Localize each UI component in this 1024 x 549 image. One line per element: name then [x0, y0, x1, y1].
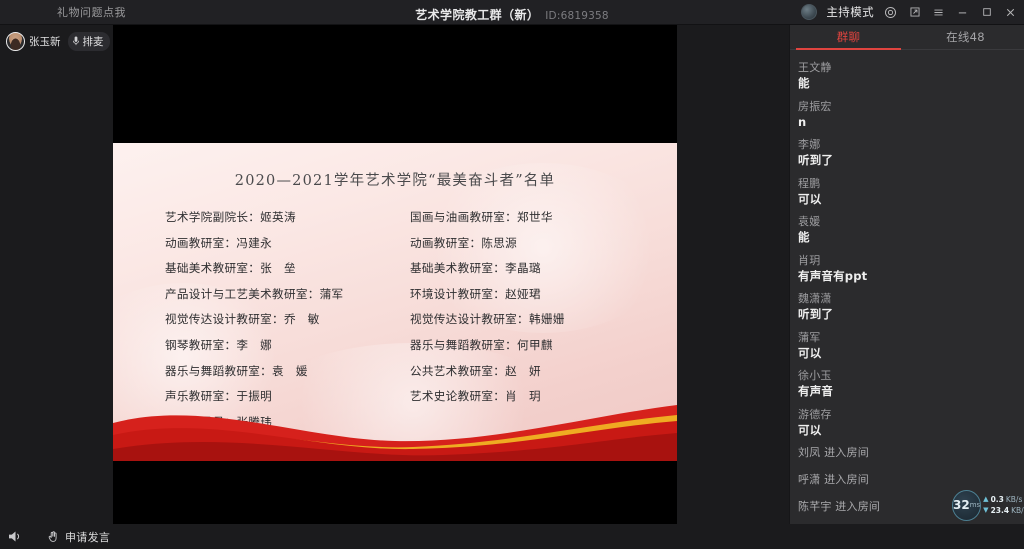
- host-avatar: [801, 4, 817, 20]
- chat-message-user[interactable]: 王文静: [798, 60, 1024, 75]
- maximize-icon[interactable]: [979, 5, 994, 20]
- request-speak-label: 申请发言: [65, 529, 110, 545]
- award-name-row: 产品设计与工艺美术教研室：蒲军环境设计教研室：赵娅珺: [165, 286, 661, 312]
- chat-message: 王文静能: [798, 60, 1024, 91]
- window-controls: 主持模式: [801, 0, 1018, 24]
- chat-message-text: 听到了: [798, 306, 1024, 322]
- main-body: 张玉新 排麦: [0, 25, 1024, 524]
- chat-message: 蒲军可以: [798, 330, 1024, 361]
- room-id: ID:6819358: [545, 10, 608, 22]
- chat-message: 程鹏可以: [798, 176, 1024, 207]
- chat-message: 肖玥有声音有ppt: [798, 253, 1024, 284]
- award-name-row: 动画教研室：冯建永动画教研室：陈思源: [165, 235, 661, 261]
- chat-message-user[interactable]: 蒲军: [798, 330, 1024, 345]
- chat-system-user: 陈芊宇: [798, 500, 832, 513]
- self-user-name: 张玉新: [29, 34, 61, 49]
- room-title: 艺术学院教工群（新）: [415, 8, 539, 22]
- chat-message-text: 听到了: [798, 152, 1024, 168]
- award-name-row: 钢琴教研室：李 娜器乐与舞蹈教研室：何甲麒: [165, 337, 661, 363]
- chat-message-user[interactable]: 肖玥: [798, 253, 1024, 268]
- chat-message-text: n: [798, 114, 1024, 130]
- award-name-row: 基础美术教研室：张 垒基础美术教研室：李晶璐: [165, 260, 661, 286]
- award-name-right: 国画与油画教研室：郑世华: [410, 209, 661, 225]
- presentation-slide: 2020—2021学年艺术学院“最美奋斗者”名单 艺术学院副院长：姬英涛国画与油…: [113, 143, 677, 461]
- app-window: 礼物问题点我 艺术学院教工群（新）ID:6819358 主持模式: [0, 0, 1024, 549]
- chat-message-user[interactable]: 袁媛: [798, 214, 1024, 229]
- award-name-row: 艺术学院副院长：姬英涛国画与油画教研室：郑世华: [165, 209, 661, 235]
- chat-system-user: 刘凤: [798, 446, 820, 459]
- award-name-left: 钢琴教研室：李 娜: [165, 337, 410, 353]
- speaker-icon[interactable]: [8, 530, 23, 543]
- self-user-row: 张玉新 排麦: [0, 25, 113, 57]
- title-bar: 礼物问题点我 艺术学院教工群（新）ID:6819358 主持模式: [0, 0, 1024, 25]
- raise-hand-icon: [47, 530, 60, 543]
- award-name-left: 视觉传达设计教研室：乔 敏: [165, 311, 410, 327]
- chat-message-user[interactable]: 魏潇潇: [798, 291, 1024, 306]
- award-name-left: 动画教研室：冯建永: [165, 235, 410, 251]
- chat-message-text: 能: [798, 75, 1024, 91]
- bottom-toolbar: 申请发言: [0, 524, 1024, 549]
- chat-message: 李娜听到了: [798, 137, 1024, 168]
- chat-message-user[interactable]: 徐小玉: [798, 368, 1024, 383]
- self-user-chip[interactable]: 张玉新: [6, 32, 61, 51]
- chat-message-user[interactable]: 房振宏: [798, 99, 1024, 114]
- chat-system-user: 呼潇: [798, 473, 820, 486]
- chat-message-text: 有声音: [798, 383, 1024, 399]
- award-name-right: 视觉传达设计教研室：韩姗姗: [410, 311, 661, 327]
- chat-message-list[interactable]: 王文静能房振宏n李娜听到了程鹏可以袁媛能肖玥有声音有ppt魏潇潇听到了蒲军可以徐…: [790, 50, 1024, 524]
- chat-tabs: 群聊 在线48: [790, 25, 1024, 50]
- chat-message-text: 可以: [798, 422, 1024, 438]
- chat-system-message: 陈芊宇 进入房间: [798, 499, 1024, 514]
- slide-wave-decoration: [113, 389, 677, 461]
- chat-message: 徐小玉有声音: [798, 368, 1024, 399]
- award-name-left: 艺术学院副院长：姬英涛: [165, 209, 410, 225]
- microphone-icon: [72, 36, 80, 46]
- chat-message: 魏潇潇听到了: [798, 291, 1024, 322]
- mic-queue-label: 排麦: [83, 34, 104, 49]
- award-name-left: 器乐与舞蹈教研室：袁 媛: [165, 363, 410, 379]
- chat-message: 房振宏n: [798, 99, 1024, 130]
- avatar: [6, 32, 25, 51]
- screen-share-area[interactable]: 2020—2021学年艺术学院“最美奋斗者”名单 艺术学院副院长：姬英涛国画与油…: [113, 25, 677, 524]
- award-name-left: 基础美术教研室：张 垒: [165, 260, 410, 276]
- award-name-row: 视觉传达设计教研室：乔 敏视觉传达设计教研室：韩姗姗: [165, 311, 661, 337]
- chat-message-user[interactable]: 程鹏: [798, 176, 1024, 191]
- slide-title: 2020—2021学年艺术学院“最美奋斗者”名单: [113, 169, 677, 190]
- tab-online-members[interactable]: 在线48: [907, 25, 1024, 49]
- award-name-row: 器乐与舞蹈教研室：袁 媛公共艺术教研室：赵 妍: [165, 363, 661, 389]
- chat-system-action: 进入房间: [820, 473, 869, 486]
- chat-message-text: 可以: [798, 345, 1024, 361]
- chat-system-action: 进入房间: [832, 500, 881, 513]
- tab-group-chat[interactable]: 群聊: [790, 25, 907, 49]
- award-name-right: 动画教研室：陈思源: [410, 235, 661, 251]
- minimize-icon[interactable]: [955, 5, 970, 20]
- chat-system-action: 进入房间: [820, 446, 869, 459]
- chat-message-user[interactable]: 游德存: [798, 407, 1024, 422]
- chat-message-text: 可以: [798, 191, 1024, 207]
- mic-queue-button[interactable]: 排麦: [68, 32, 110, 51]
- chat-message-user[interactable]: 李娜: [798, 137, 1024, 152]
- chat-message: 袁媛能: [798, 214, 1024, 245]
- award-name-right: 公共艺术教研室：赵 妍: [410, 363, 661, 379]
- chat-system-message: 刘凤 进入房间: [798, 445, 1024, 460]
- popout-icon[interactable]: [907, 5, 922, 20]
- chat-message: 游德存可以: [798, 407, 1024, 438]
- stage-area: 张玉新 排麦: [0, 25, 789, 524]
- target-icon[interactable]: [883, 5, 898, 20]
- award-name-right: 环境设计教研室：赵娅珺: [410, 286, 661, 302]
- chat-message-text: 能: [798, 229, 1024, 245]
- menu-icon[interactable]: [931, 5, 946, 20]
- chat-message-text: 有声音有ppt: [798, 268, 1024, 284]
- host-mode-label[interactable]: 主持模式: [826, 4, 874, 20]
- request-speak-button[interactable]: 申请发言: [47, 529, 110, 545]
- award-name-right: 基础美术教研室：李晶璐: [410, 260, 661, 276]
- award-name-right: 器乐与舞蹈教研室：何甲麒: [410, 337, 661, 353]
- chat-system-message: 呼潇 进入房间: [798, 472, 1024, 487]
- chat-panel: 群聊 在线48 王文静能房振宏n李娜听到了程鹏可以袁媛能肖玥有声音有ppt魏潇潇…: [789, 25, 1024, 524]
- close-icon[interactable]: [1003, 5, 1018, 20]
- award-name-left: 产品设计与工艺美术教研室：蒲军: [165, 286, 410, 302]
